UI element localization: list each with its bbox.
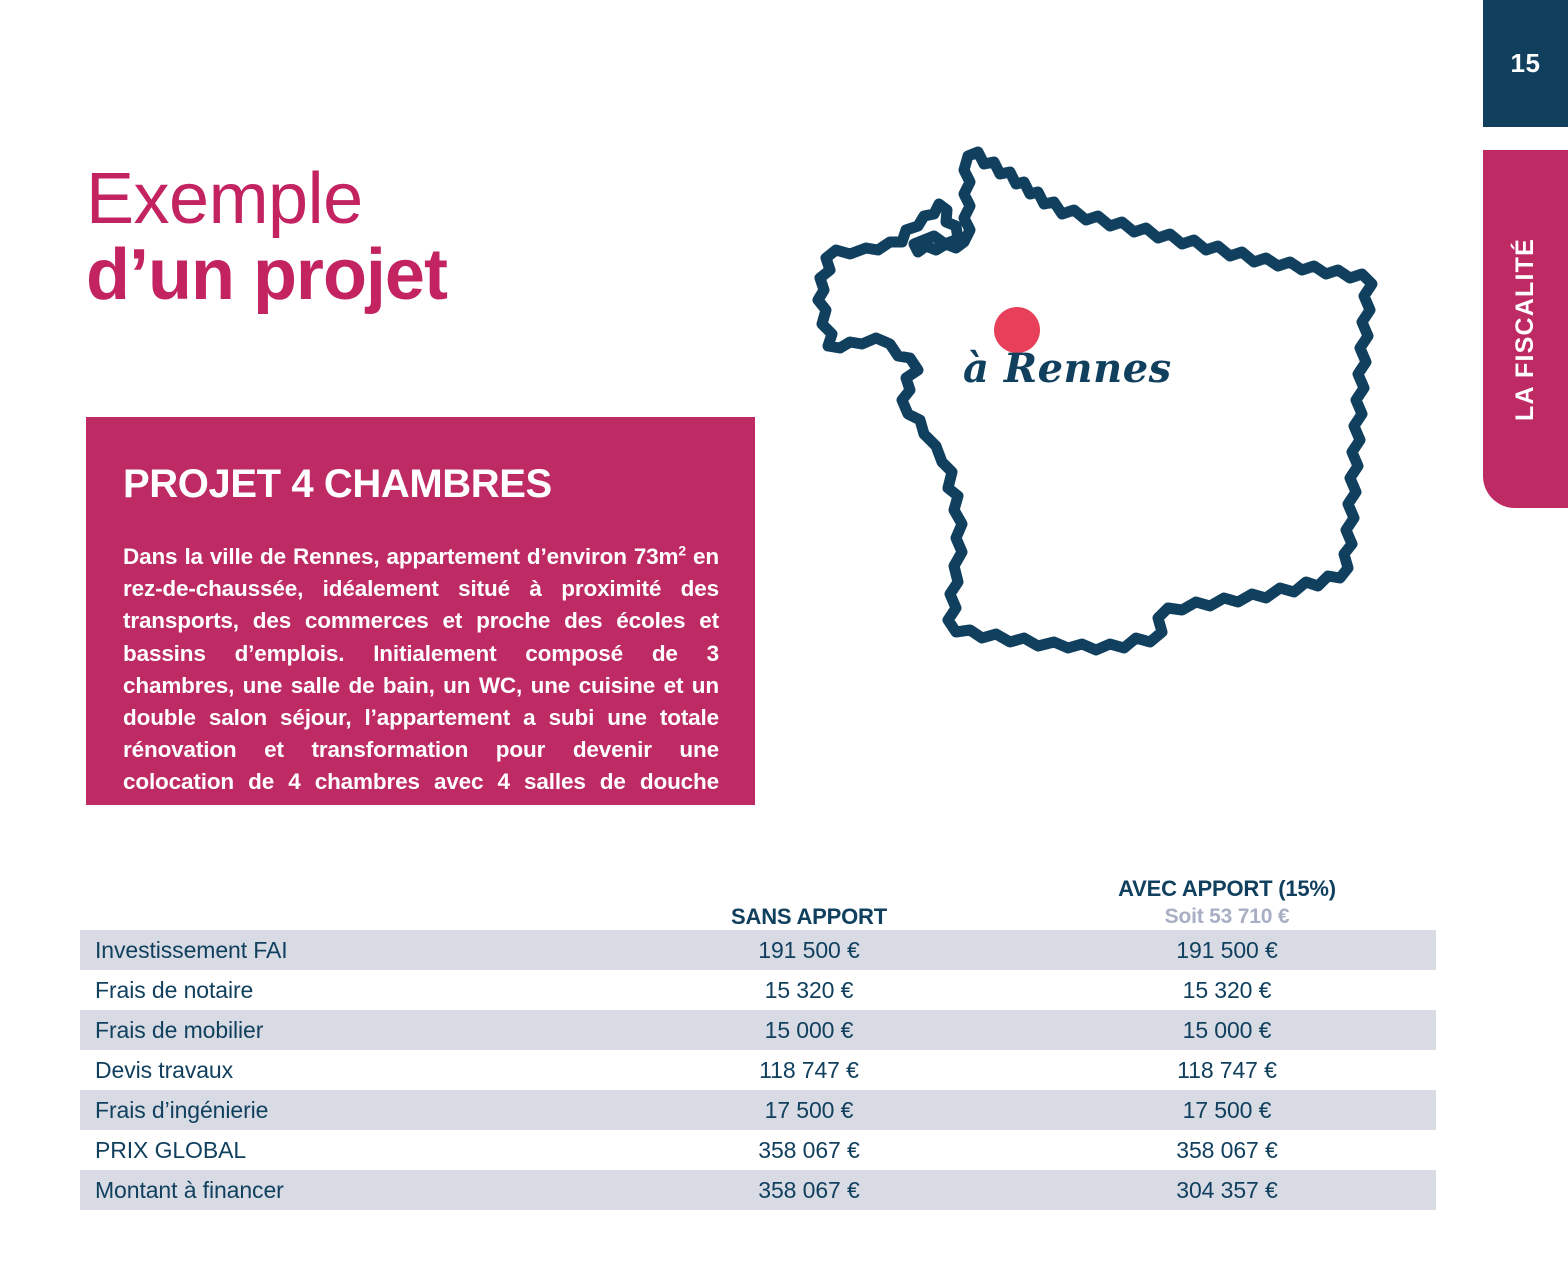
table-row: Investissement FAI191 500 €191 500 € <box>80 930 1436 970</box>
table-body: Investissement FAI191 500 €191 500 €Frai… <box>80 930 1436 1210</box>
table-cell-label: Devis travaux <box>80 1057 600 1084</box>
table-cell-label: Frais d’ingénierie <box>80 1097 600 1124</box>
project-card-body-exponent: 2 <box>678 543 686 559</box>
table-cell-label: Frais de notaire <box>80 977 600 1004</box>
table-cell-avec-apport: 304 357 € <box>1018 1177 1436 1204</box>
table-header-sans-apport-label: SANS APPORT <box>600 903 1018 931</box>
table-header-avec-apport-sublabel: Soit 53 710 € <box>1018 903 1436 930</box>
page-number-block: 15 <box>1483 0 1568 127</box>
project-card-body-part1: Dans la ville de Rennes, appartement d’e… <box>123 544 678 569</box>
table-row: Frais de mobilier15 000 €15 000 € <box>80 1010 1436 1050</box>
project-card-body: Dans la ville de Rennes, appartement d’e… <box>123 541 719 831</box>
table-cell-avec-apport: 17 500 € <box>1018 1097 1436 1124</box>
section-tab-label: LA FISCALITÉ <box>1511 238 1540 421</box>
table-cell-sans-apport: 358 067 € <box>600 1177 1018 1204</box>
table-cell-sans-apport: 358 067 € <box>600 1137 1018 1164</box>
page-title: Exemple d’un projet <box>86 163 786 314</box>
page-title-line-2: d’un projet <box>86 238 786 314</box>
section-tab-la-fiscalite: LA FISCALITÉ <box>1483 150 1568 508</box>
rennes-city-label: à Rennes <box>963 345 1172 392</box>
table-row: Montant à financer358 067 €304 357 € <box>80 1170 1436 1210</box>
project-card-heading: PROJET 4 CHAMBRES <box>123 462 719 507</box>
table-row: PRIX GLOBAL358 067 €358 067 € <box>80 1130 1436 1170</box>
table-cell-label: Montant à financer <box>80 1177 600 1204</box>
table-cell-avec-apport: 15 000 € <box>1018 1017 1436 1044</box>
table-cell-sans-apport: 15 000 € <box>600 1017 1018 1044</box>
table-cell-avec-apport: 118 747 € <box>1018 1057 1436 1084</box>
project-description-card: PROJET 4 CHAMBRES Dans la ville de Renne… <box>86 417 755 805</box>
page-title-line-1: Exemple <box>86 163 786 236</box>
france-map <box>806 138 1396 668</box>
table-header-avec-apport: AVEC APPORT (15%) Soit 53 710 € <box>1018 875 1436 930</box>
table-row: Devis travaux118 747 €118 747 € <box>80 1050 1436 1090</box>
finance-comparison-table: SANS APPORT AVEC APPORT (15%) Soit 53 71… <box>80 848 1436 1210</box>
table-cell-label: Investissement FAI <box>80 937 600 964</box>
table-header-avec-apport-label: AVEC APPORT (15%) <box>1018 875 1436 903</box>
table-cell-sans-apport: 118 747 € <box>600 1057 1018 1084</box>
project-card-body-part2: en rez-de-chaussée, idéalement situé à p… <box>123 544 719 826</box>
table-header-sans-apport: SANS APPORT <box>600 903 1018 931</box>
table-header-row: SANS APPORT AVEC APPORT (15%) Soit 53 71… <box>80 848 1436 930</box>
table-row: Frais de notaire15 320 €15 320 € <box>80 970 1436 1010</box>
table-cell-sans-apport: 15 320 € <box>600 977 1018 1004</box>
table-cell-sans-apport: 17 500 € <box>600 1097 1018 1124</box>
table-cell-label: Frais de mobilier <box>80 1017 600 1044</box>
table-cell-avec-apport: 15 320 € <box>1018 977 1436 1004</box>
table-cell-label: PRIX GLOBAL <box>80 1137 600 1164</box>
france-outline-path <box>818 152 1372 650</box>
table-cell-avec-apport: 191 500 € <box>1018 937 1436 964</box>
table-cell-sans-apport: 191 500 € <box>600 937 1018 964</box>
page-number: 15 <box>1511 48 1541 79</box>
table-cell-avec-apport: 358 067 € <box>1018 1137 1436 1164</box>
table-row: Frais d’ingénierie17 500 €17 500 € <box>80 1090 1436 1130</box>
